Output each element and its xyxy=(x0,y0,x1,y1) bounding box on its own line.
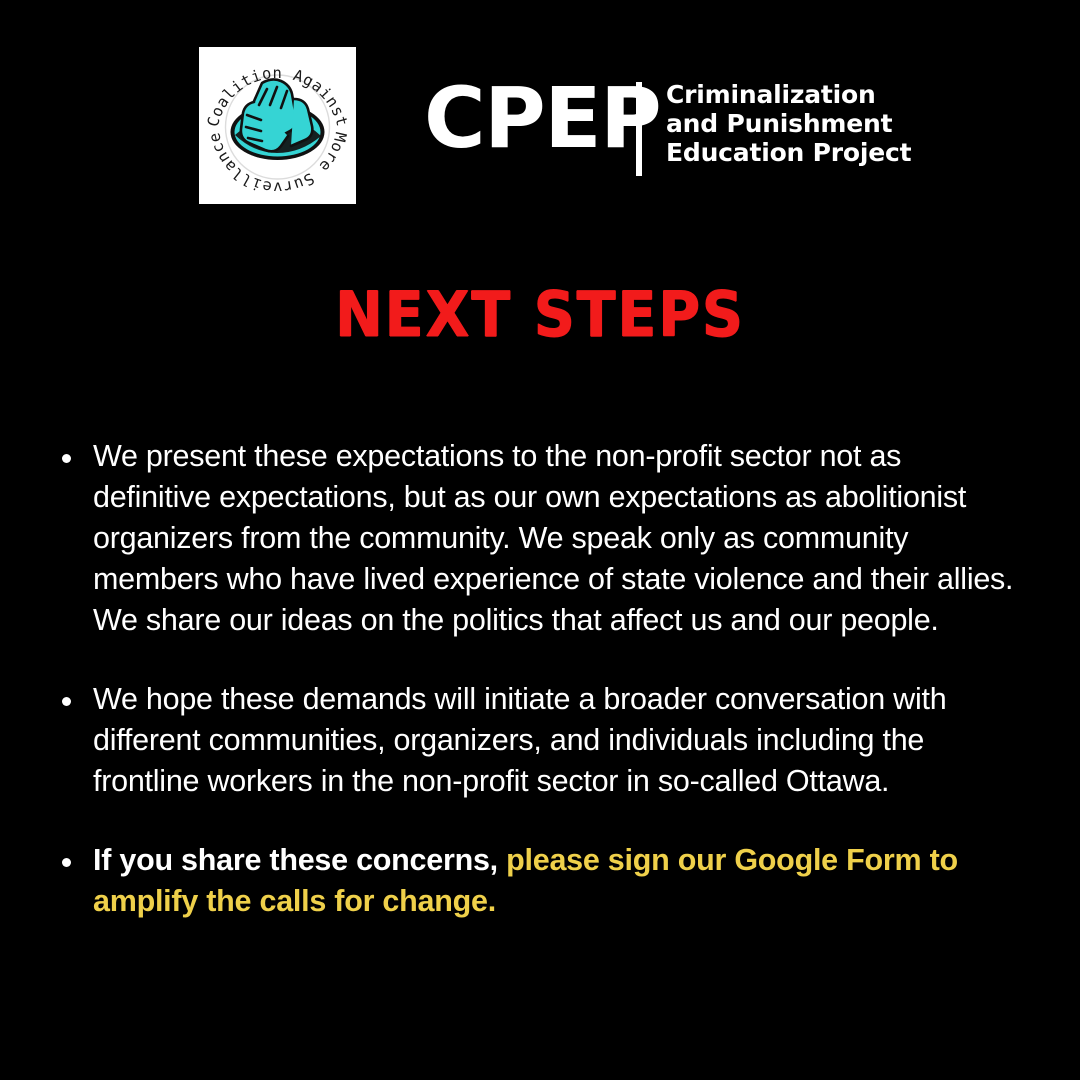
bullet-expectations-text: We present these expectations to the non… xyxy=(93,436,1018,641)
cams-logo: Coalition Against More Surveillance xyxy=(199,47,356,204)
tagline-line-1: Criminalization xyxy=(666,80,966,109)
cpep-wordmark: CPEP xyxy=(424,76,660,160)
slide-canvas: Coalition Against More Surveillance CPEP… xyxy=(0,0,1080,1080)
wordmark-divider xyxy=(636,82,642,176)
bullet-marker-icon xyxy=(62,436,93,468)
cpep-tagline: Criminalization and Punishment Education… xyxy=(666,80,966,167)
page-title: NEXT STEPS xyxy=(43,281,1037,349)
bullet-broader-conversation-text: We hope these demands will initiate a br… xyxy=(93,679,1018,802)
bullet-marker-icon xyxy=(62,840,93,872)
cta-lead-text: If you share these concerns, xyxy=(93,843,506,877)
clasped-hands-logo-icon: Coalition Against More Surveillance xyxy=(199,47,356,204)
header-bar: Coalition Against More Surveillance CPEP… xyxy=(0,0,1080,250)
tagline-line-3: Education Project xyxy=(666,138,966,167)
bullet-call-to-action-text: If you share these concerns, please sign… xyxy=(93,840,1018,922)
tagline-line-2: and Punishment xyxy=(666,109,966,138)
next-steps-list: We present these expectations to the non… xyxy=(62,436,1018,922)
list-item: We present these expectations to the non… xyxy=(62,436,1018,641)
list-item: We hope these demands will initiate a br… xyxy=(62,679,1018,802)
bullet-marker-icon xyxy=(62,679,93,711)
list-item: If you share these concerns, please sign… xyxy=(62,840,1018,922)
